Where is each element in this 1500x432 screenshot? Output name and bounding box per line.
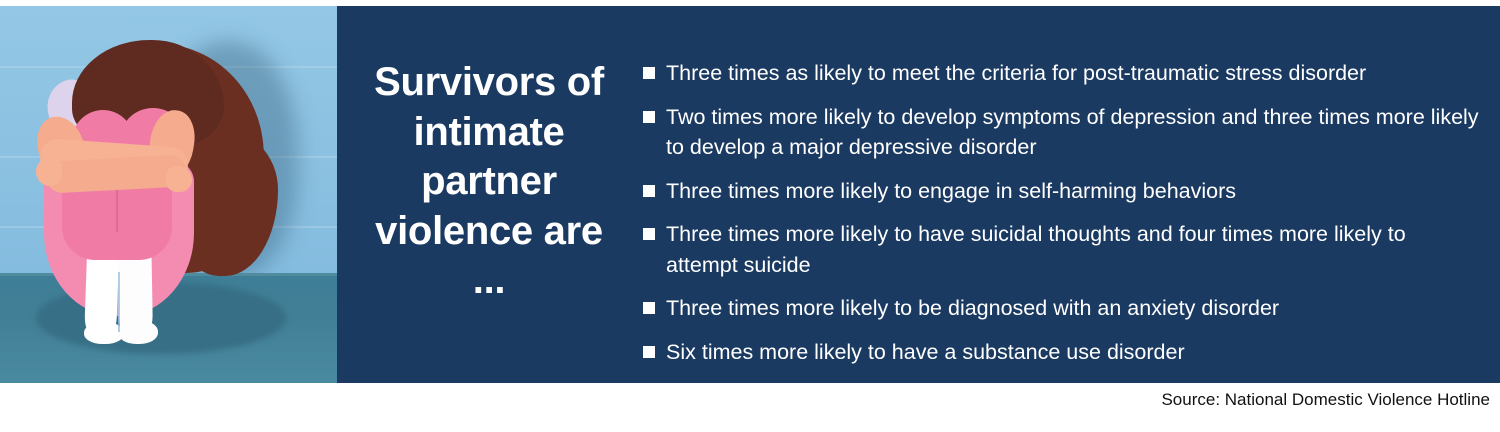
list-item-text: Three times more likely to be diagnosed …	[666, 296, 1279, 320]
bullet-square-icon	[643, 185, 655, 197]
list-item: Six times more likely to have a substanc…	[643, 337, 1482, 368]
bullet-square-icon	[643, 67, 655, 79]
list-item-text: Six times more likely to have a substanc…	[666, 340, 1185, 364]
figure-sock-seam	[118, 272, 120, 332]
list-item-text: Three times as likely to meet the criter…	[666, 61, 1366, 85]
list-item-text: Two times more likely to develop symptom…	[666, 105, 1479, 160]
list-item: Three times more likely to have suicidal…	[643, 219, 1482, 280]
list-item-text: Three times more likely to engage in sel…	[666, 179, 1236, 203]
bullet-square-icon	[643, 302, 655, 314]
list-item: Two times more likely to develop symptom…	[643, 102, 1482, 163]
list-item-text: Three times more likely to have suicidal…	[666, 222, 1406, 277]
list-item: Three times more likely to be diagnosed …	[643, 293, 1482, 324]
source-attribution: Source: National Domestic Violence Hotli…	[1161, 390, 1490, 410]
figure-hand-left	[36, 158, 62, 186]
content-panel: Survivors of intimate partner violence a…	[337, 6, 1500, 383]
bullet-square-icon	[643, 228, 655, 240]
statistics-list: Three times as likely to meet the criter…	[643, 58, 1482, 367]
bullet-square-icon	[643, 111, 655, 123]
list-item: Three times as likely to meet the criter…	[643, 58, 1482, 89]
bullet-square-icon	[643, 346, 655, 358]
illustration-panel	[0, 6, 337, 383]
infographic-root: Survivors of intimate partner violence a…	[0, 0, 1500, 432]
figure-foot-right	[118, 320, 158, 344]
figure-hand-right	[166, 166, 192, 192]
list-item: Three times more likely to engage in sel…	[643, 176, 1482, 207]
headline: Survivors of intimate partner violence a…	[355, 58, 623, 306]
